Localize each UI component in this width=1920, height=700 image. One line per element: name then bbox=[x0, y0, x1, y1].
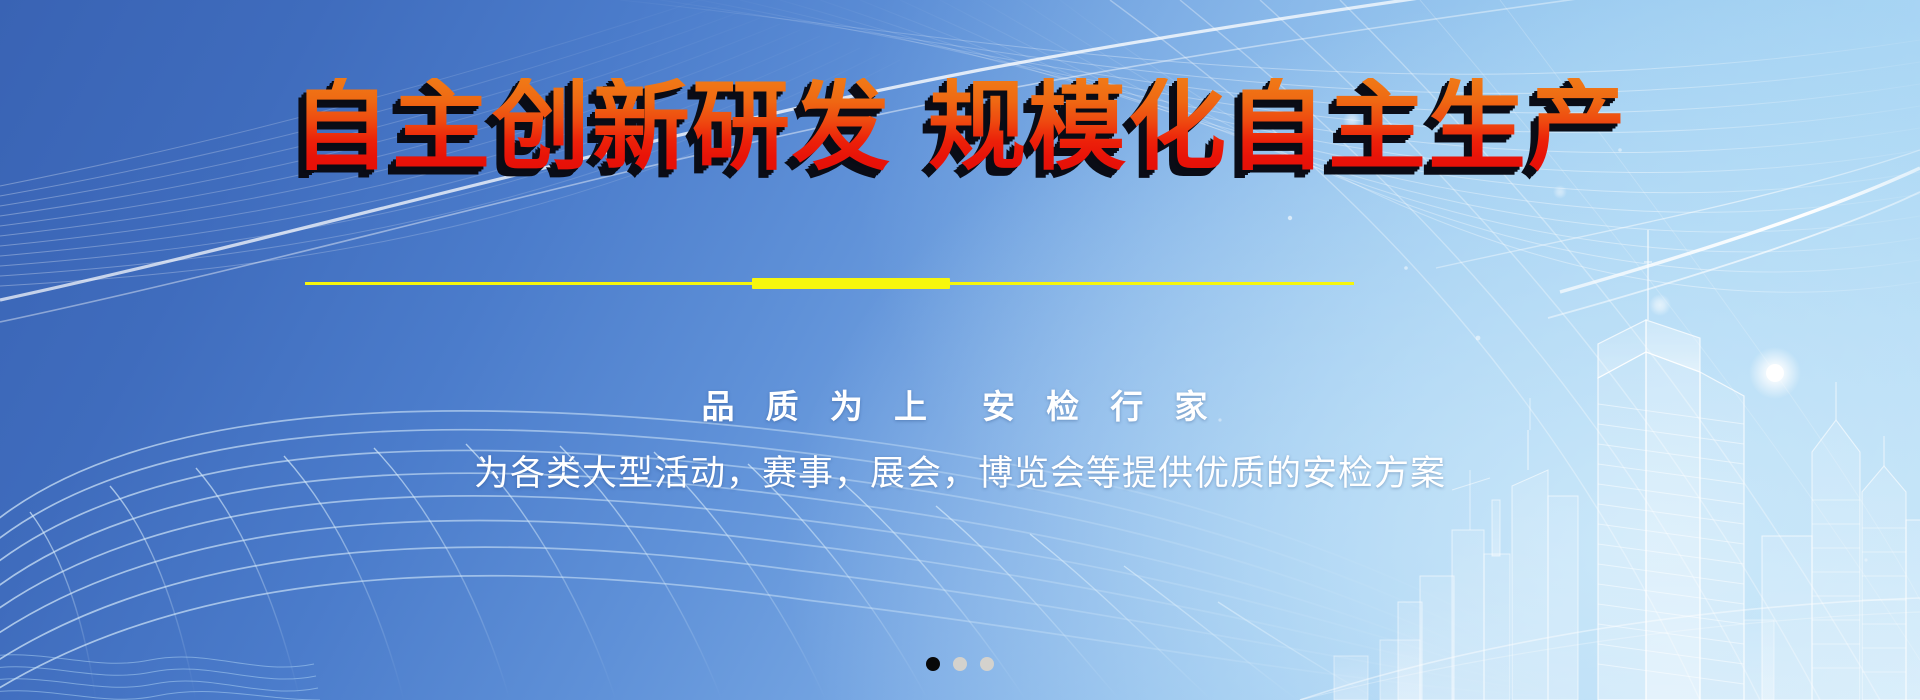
divider bbox=[0, 276, 1920, 292]
carousel-dot-2[interactable] bbox=[953, 657, 967, 671]
subtitle-secondary: 为各类大型活动，赛事，展会，博览会等提供优质的安检方案 bbox=[0, 445, 1920, 496]
divider-thick-line bbox=[752, 278, 950, 289]
hero-banner-slide: 自主创新研发 规模化自主生产 品 质 为 上 安 检 行 家 为各类大型活动，赛… bbox=[0, 0, 1920, 700]
page-title: 自主创新研发 规模化自主生产 bbox=[0, 78, 1920, 176]
carousel-dot-3[interactable] bbox=[980, 657, 994, 671]
carousel-dot-1[interactable] bbox=[926, 657, 940, 671]
subtitle-primary: 品 质 为 上 安 检 行 家 bbox=[0, 380, 1920, 428]
carousel-indicators bbox=[0, 657, 1920, 671]
